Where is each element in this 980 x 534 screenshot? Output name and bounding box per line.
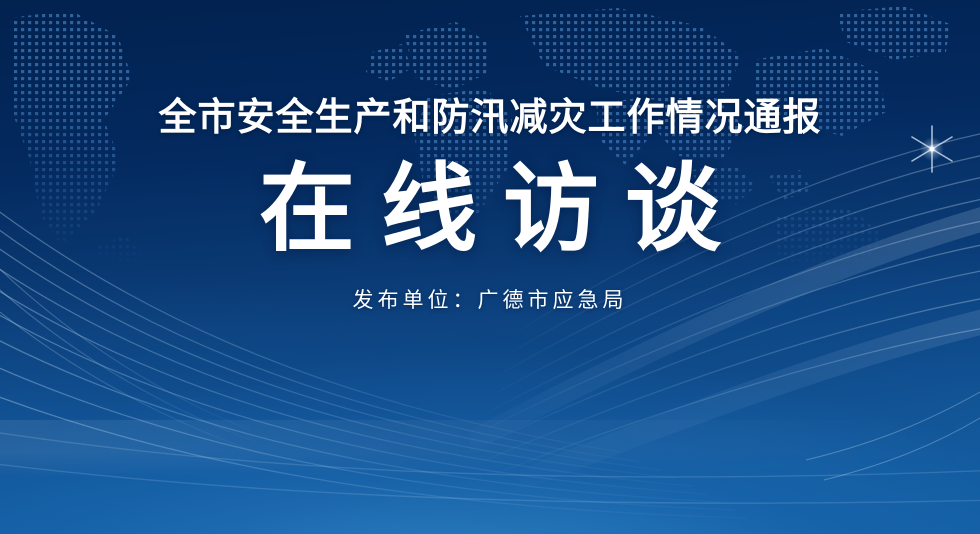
flowing-wave-ribbons (0, 0, 980, 534)
bottom-glow (0, 384, 980, 534)
sparkle-icon (903, 120, 961, 178)
page-title: 在线访谈 (233, 158, 747, 262)
poster-canvas: 全市安全生产和防汛减灾工作情况通报 在线访谈 发布单位：广德市应急局 (0, 0, 980, 534)
poster-content: 全市安全生产和防汛减灾工作情况通报 在线访谈 发布单位：广德市应急局 (0, 0, 980, 534)
publisher-line: 发布单位：广德市应急局 (353, 284, 628, 314)
dotted-world-map (0, 0, 980, 330)
secondary-heading: 全市安全生产和防汛减灾工作情况通报 (158, 86, 821, 141)
horizontal-light-band (0, 420, 980, 478)
